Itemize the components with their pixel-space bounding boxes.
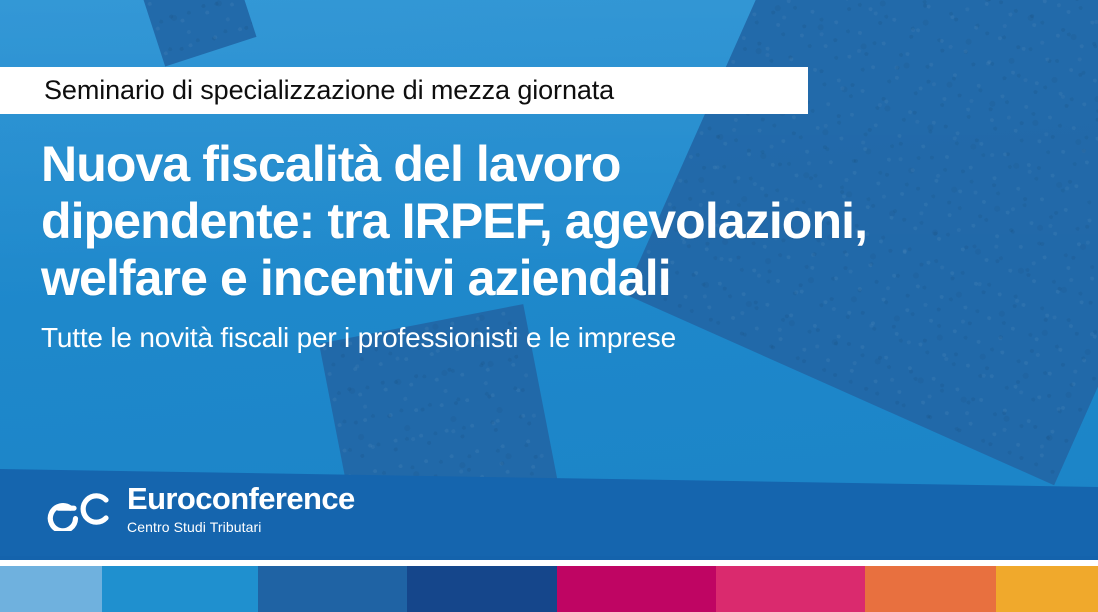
color-segment-pink [716,566,865,612]
logo-name: Euroconference [127,483,355,514]
page-title-line-1: Nuova fiscalità del lavoro [41,136,1061,193]
promotional-banner: Seminario di specializzazione di mezza g… [0,0,1098,612]
page-subtitle: Tutte le novità fiscali per i profession… [41,321,1061,355]
color-segment-medium-blue [258,566,407,612]
color-segment-amber [996,566,1098,612]
eyebrow-label: Seminario di specializzazione di mezza g… [44,75,614,106]
page-title-line-2: dipendente: tra IRPEF, agevolazioni, [41,193,1061,250]
page-title-line-3: welfare e incentivi aziendali [41,250,1061,307]
ec-monogram-icon [44,487,114,531]
eyebrow-band: Seminario di specializzazione di mezza g… [0,67,808,114]
brand-logo: Euroconference Centro Studi Tributari [44,483,355,534]
logo-tagline: Centro Studi Tributari [127,520,355,534]
logo-text-block: Euroconference Centro Studi Tributari [127,483,355,534]
title-block: Nuova fiscalità del lavoro dipendente: t… [41,136,1061,355]
color-segment-light-blue [0,566,102,612]
color-segment-navy-blue [407,566,557,612]
color-segment-sky-blue [102,566,258,612]
brand-color-strip [0,566,1098,612]
color-segment-orange [865,566,996,612]
color-segment-magenta [557,566,716,612]
